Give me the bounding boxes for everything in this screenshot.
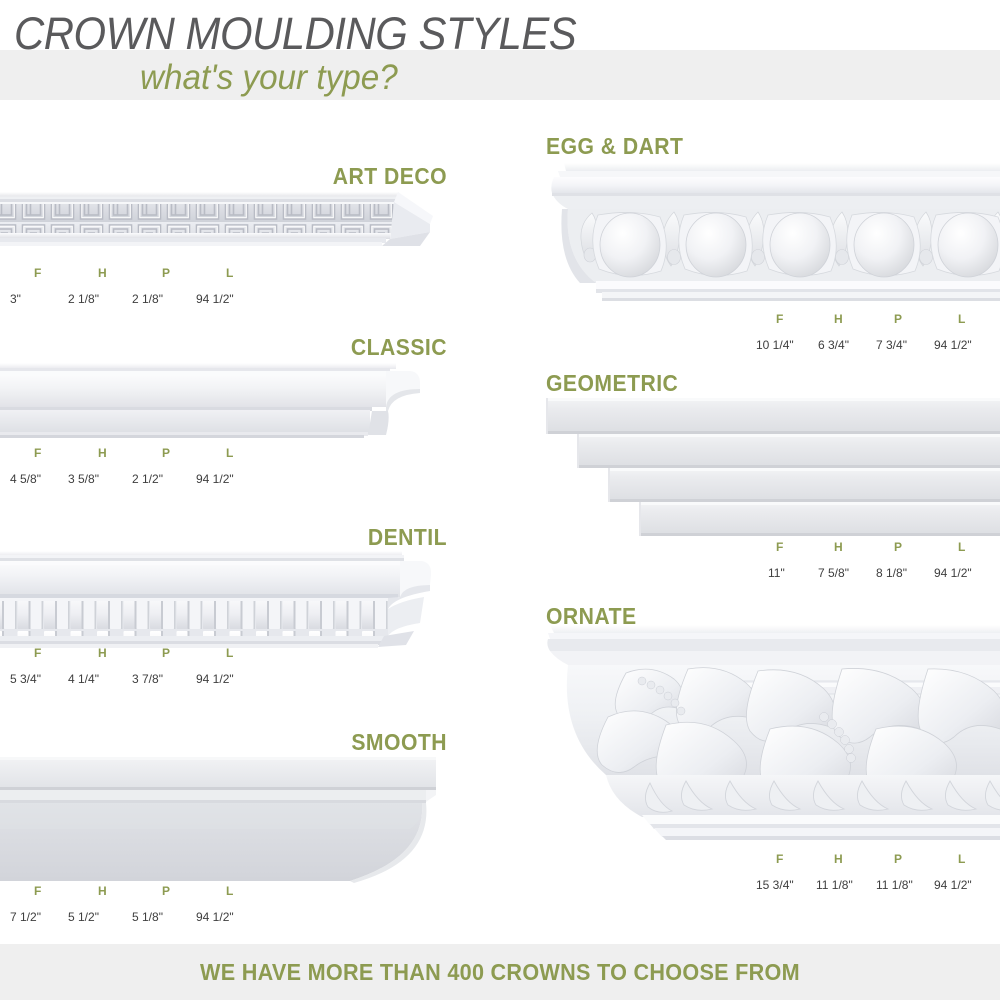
- spec-value-l: 94 1/2": [196, 472, 234, 486]
- spec-value-l: 94 1/2": [934, 878, 972, 892]
- spec-value-p: 8 1/8": [876, 566, 907, 580]
- spec-value-l: 94 1/2": [196, 672, 234, 686]
- spec-header-l: L: [226, 266, 233, 280]
- spec-value-f: 11": [768, 566, 785, 580]
- spec-header-f: F: [34, 884, 41, 898]
- spec-value-f: 15 3/4": [756, 878, 794, 892]
- spec-value-h: 6 3/4": [818, 338, 849, 352]
- infographic-page: CROWN MOULDING STYLES what's your type? …: [0, 0, 1000, 1000]
- moulding-art-geometric: [546, 398, 1000, 540]
- spec-value-f: 7 1/2": [10, 910, 41, 924]
- spec-value-l: 94 1/2": [934, 566, 972, 580]
- spec-value-h: 7 5/8": [818, 566, 849, 580]
- spec-header-p: P: [162, 884, 170, 898]
- spec-header-h: H: [834, 852, 843, 866]
- spec-header-f: F: [34, 646, 41, 660]
- spec-header-l: L: [226, 646, 233, 660]
- spec-header-l: L: [958, 852, 965, 866]
- spec-header-p: P: [162, 446, 170, 460]
- spec-value-f: 10 1/4": [756, 338, 794, 352]
- moulding-art-ornate: [546, 625, 1000, 855]
- moulding-art-art-deco: [0, 192, 440, 260]
- spec-header-f: F: [34, 266, 41, 280]
- spec-header-h: H: [98, 266, 107, 280]
- spec-value-f: 3": [10, 292, 21, 306]
- spec-header-h: H: [98, 884, 107, 898]
- moulding-art-classic: [0, 363, 440, 463]
- moulding-art-egg-and-dart: [546, 163, 1000, 313]
- spec-header-f: F: [776, 852, 783, 866]
- style-title-dentil: DENTIL: [36, 524, 447, 551]
- spec-header-l: L: [226, 884, 233, 898]
- moulding-art-smooth: [0, 757, 450, 892]
- spec-value-p: 2 1/8": [132, 292, 163, 306]
- style-title-egg-and-dart: EGG & DART: [546, 133, 683, 160]
- style-title-geometric: GEOMETRIC: [546, 370, 678, 397]
- spec-value-f: 4 5/8": [10, 472, 41, 486]
- spec-header-p: P: [162, 266, 170, 280]
- spec-value-p: 3 7/8": [132, 672, 163, 686]
- spec-header-l: L: [226, 446, 233, 460]
- style-title-art-deco: ART DECO: [36, 163, 447, 190]
- spec-value-h: 2 1/8": [68, 292, 99, 306]
- spec-header-h: H: [834, 540, 843, 554]
- page-subtitle: what's your type?: [140, 58, 398, 98]
- spec-header-h: H: [98, 446, 107, 460]
- spec-value-h: 4 1/4": [68, 672, 99, 686]
- spec-header-p: P: [894, 540, 902, 554]
- spec-header-l: L: [958, 312, 965, 326]
- spec-value-l: 94 1/2": [196, 292, 234, 306]
- spec-header-f: F: [34, 446, 41, 460]
- moulding-art-dentil: [0, 551, 440, 661]
- spec-header-h: H: [98, 646, 107, 660]
- spec-header-h: H: [834, 312, 843, 326]
- style-title-classic: CLASSIC: [36, 334, 447, 361]
- spec-header-f: F: [776, 312, 783, 326]
- spec-header-f: F: [776, 540, 783, 554]
- spec-value-l: 94 1/2": [934, 338, 972, 352]
- spec-header-p: P: [894, 312, 902, 326]
- style-title-smooth: SMOOTH: [36, 729, 447, 756]
- spec-value-p: 5 1/8": [132, 910, 163, 924]
- spec-header-l: L: [958, 540, 965, 554]
- spec-value-p: 11 1/8": [876, 878, 913, 892]
- spec-value-f: 5 3/4": [10, 672, 41, 686]
- spec-value-l: 94 1/2": [196, 910, 234, 924]
- spec-value-h: 3 5/8": [68, 472, 99, 486]
- spec-header-p: P: [162, 646, 170, 660]
- spec-value-h: 11 1/8": [816, 878, 853, 892]
- spec-value-h: 5 1/2": [68, 910, 99, 924]
- spec-value-p: 7 3/4": [876, 338, 907, 352]
- footer-tagline: WE HAVE MORE THAN 400 CROWNS TO CHOOSE F…: [30, 959, 970, 986]
- page-title: CROWN MOULDING STYLES: [14, 8, 576, 60]
- spec-header-p: P: [894, 852, 902, 866]
- spec-value-p: 2 1/2": [132, 472, 163, 486]
